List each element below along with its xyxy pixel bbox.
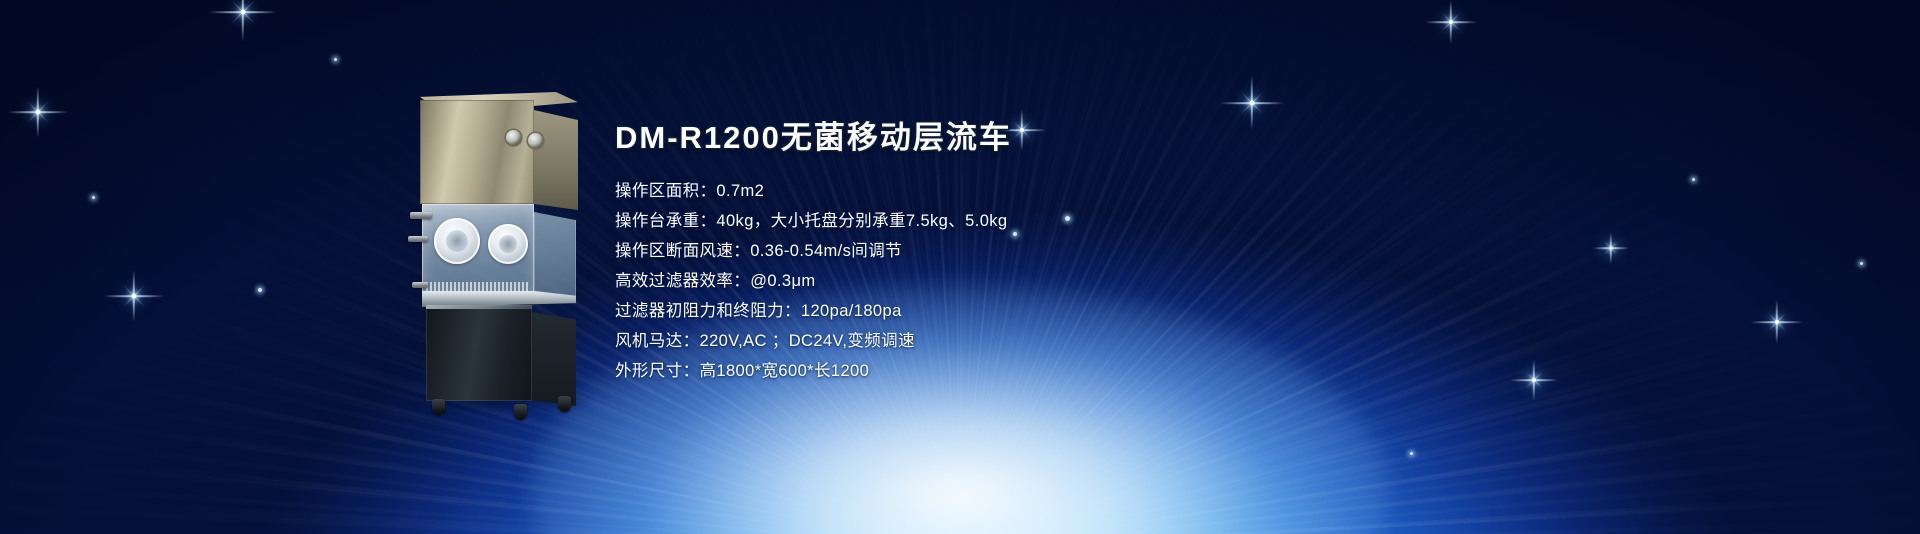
product-image — [396, 86, 596, 406]
cabinet-side-panel — [532, 312, 576, 406]
banner-stage: DM-R1200无菌移动层流车 操作区面积：0.7m2操作台承重：40kg，大小… — [0, 0, 1920, 534]
cabinet-front-panel — [426, 305, 532, 401]
cart-hood-front — [420, 100, 534, 204]
side-handle — [412, 282, 428, 288]
perforated-worktop-grill — [426, 282, 530, 291]
spec-line: 操作区面积：0.7m2 — [615, 176, 1415, 206]
spec-line: 风机马达：220V,AC ；DC24V,变频调速 — [615, 326, 1415, 356]
pressure-gauge-icon — [528, 133, 543, 148]
side-handle — [410, 212, 432, 219]
pressure-gauge-icon — [506, 130, 521, 145]
product-spec-list: 操作区面积：0.7m2操作台承重：40kg，大小托盘分别承重7.5kg、5.0k… — [615, 176, 1415, 386]
spec-line: 操作区断面风速：0.36-0.54m/s间调节 — [615, 236, 1415, 266]
product-title: DM-R1200无菌移动层流车 — [615, 118, 1415, 158]
cart-hood-side — [534, 110, 578, 210]
spec-line: 过滤器初阻力和终阻力：120pa/180pa — [615, 296, 1415, 326]
cabinet-edge-highlight — [426, 305, 532, 309]
spec-line: 操作台承重：40kg，大小托盘分别承重7.5kg、5.0kg — [615, 206, 1415, 236]
spec-line: 外形尺寸：高1800*宽600*长1200 — [615, 356, 1415, 386]
caster-wheel-icon — [514, 404, 527, 420]
spec-line: 高效过滤器效率：@0.3μm — [615, 266, 1415, 296]
caster-wheel-icon — [432, 399, 445, 415]
chamber-side-panel — [534, 212, 576, 302]
banner-text-block: DM-R1200无菌移动层流车 操作区面积：0.7m2操作台承重：40kg，大小… — [615, 118, 1415, 386]
side-handle — [408, 236, 428, 242]
caster-wheel-icon — [558, 396, 571, 412]
glove-port-icon — [488, 224, 528, 264]
glove-port-icon — [434, 218, 480, 264]
